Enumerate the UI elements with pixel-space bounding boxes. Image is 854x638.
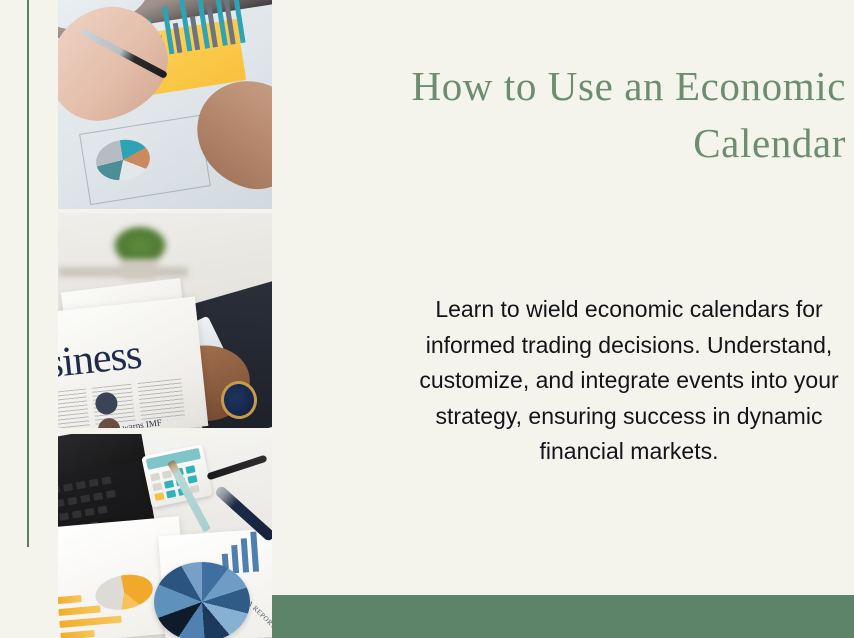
vertical-accent-line — [27, 0, 29, 547]
page-title: How to Use an Economic Calendar — [308, 58, 846, 172]
page-subtitle: Learn to wield economic calendars for in… — [404, 292, 854, 470]
newspaper-masthead: usiness — [58, 331, 143, 391]
photo-laptop-calculator-charts: DATA REPORT — [58, 434, 272, 638]
slide-canvas: usiness global crisis, warns IMF — [0, 0, 854, 638]
plant-shape — [112, 225, 168, 259]
bottom-green-band — [272, 595, 854, 638]
photo-analysts-reviewing-charts — [58, 0, 272, 209]
photo-businessman-reading-newspaper: usiness global crisis, warns IMF — [58, 213, 272, 428]
content-area: How to Use an Economic Calendar Learn to… — [300, 0, 854, 638]
newspaper-shape: usiness global crisis, warns IMF — [58, 297, 208, 428]
pie-chart-shape — [154, 562, 250, 638]
pie-chart-shape — [92, 570, 155, 614]
image-gallery-column: usiness global crisis, warns IMF — [58, 0, 272, 638]
